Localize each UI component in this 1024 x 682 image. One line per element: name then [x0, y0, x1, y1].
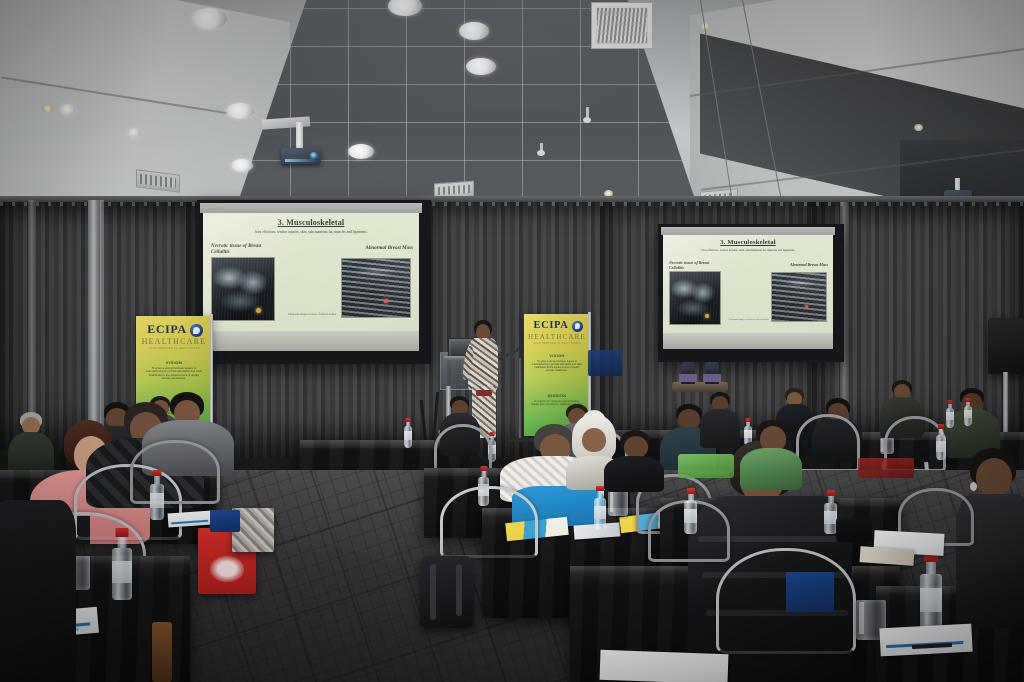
- slide-content: 3. Musculoskeletal Joint effusions, tend…: [203, 213, 419, 331]
- projection-screen-left[interactable]: 3. Musculoskeletal Joint effusions, tend…: [197, 200, 431, 364]
- screen-surface: 3. Musculoskeletal Joint effusions, tend…: [203, 213, 419, 331]
- water-bottle: [684, 488, 697, 534]
- sprinkler-head: [586, 107, 589, 119]
- slide-caption-right: Abnormal Breast Mass: [339, 246, 413, 252]
- blue-bag: [210, 510, 240, 532]
- spotlight: [42, 104, 53, 113]
- pa-speaker: [988, 318, 1024, 374]
- exhibit-item: [703, 374, 721, 382]
- audience-member: [740, 420, 802, 490]
- audience-member: [604, 430, 664, 492]
- banner-subtitle: HEALTHCARE: [524, 333, 590, 341]
- water-bottle: [946, 400, 954, 428]
- water-bottle: [594, 486, 606, 530]
- audience-member: [0, 500, 76, 682]
- water-bottle: [404, 418, 412, 448]
- slide-credit: Ultrasound images courtesy of clinical a…: [281, 313, 343, 316]
- projector[interactable]: [281, 148, 321, 164]
- downlight: [466, 58, 496, 75]
- slide-bullet: Joint effusions, tendon injuries, skin, …: [213, 230, 409, 234]
- screen-valance: [200, 203, 422, 213]
- banner-vision-heading: VISION: [524, 354, 590, 358]
- wall-pillar: [28, 200, 36, 444]
- downlight: [459, 22, 489, 40]
- downlight: [226, 103, 254, 119]
- hvac-vent: [591, 2, 653, 49]
- slide-caption-right: Abnormal Breast Mass: [770, 263, 828, 268]
- ultrasound-image-left: [670, 272, 720, 324]
- chair: [130, 440, 220, 504]
- banner-tagline: YOUR PARTNER IN HEALTHCARE: [524, 342, 590, 345]
- notepad: [879, 624, 972, 657]
- ecipa-logo-icon: [190, 324, 203, 337]
- slide-caption-left: Necrotic tissue of Breast Cellulitis: [669, 261, 725, 270]
- tote-logo: [210, 556, 244, 582]
- green-item: [678, 454, 734, 478]
- banner-vision-body: To grow a strong business legacy of manu…: [531, 360, 583, 373]
- chair: [440, 486, 538, 558]
- conference-room-photo: 3. Musculoskeletal Joint effusions, tend…: [0, 0, 1024, 682]
- earring: [970, 482, 977, 491]
- screen-valance: [661, 227, 835, 235]
- mobile-phone[interactable]: [836, 518, 872, 542]
- water-bottle: [964, 398, 972, 426]
- screen-surface: 3. Musculoskeletal Joint effusions, tend…: [663, 235, 833, 333]
- banner-mission-heading: MISSION: [524, 394, 590, 398]
- exhibit-item: [679, 374, 697, 382]
- downlight: [191, 8, 227, 30]
- water-bottle: [112, 528, 132, 600]
- banner-subtitle: HEALTHCARE: [136, 337, 212, 346]
- downlight: [348, 144, 374, 159]
- slide-title: 3. Musculoskeletal: [203, 218, 419, 227]
- banner-vision-heading: VISION: [136, 360, 212, 365]
- presenter-top: [468, 338, 498, 390]
- ultrasound-image-right: [342, 259, 410, 317]
- banner-vision-body: To grow a strong business legacy of manu…: [145, 367, 203, 381]
- downlight: [127, 128, 141, 138]
- blue-bag: [588, 350, 622, 376]
- red-bag: [858, 458, 914, 478]
- curtain-hooks: [0, 202, 1024, 206]
- downlight: [60, 104, 75, 116]
- blue-bag: [786, 572, 834, 612]
- chair-leg: [152, 622, 172, 682]
- water-bottle: [920, 552, 942, 630]
- drinking-glass: [608, 490, 628, 516]
- water-bottle: [150, 470, 164, 520]
- ecipa-logo-icon: [572, 321, 583, 332]
- backpack: [420, 556, 474, 628]
- ultrasound-image-left: [212, 258, 274, 320]
- banner-tagline: YOUR PARTNER IN HEALTHCARE: [136, 347, 212, 350]
- slide-title: 3. Musculoskeletal: [663, 239, 833, 246]
- screen-lower-band: [203, 331, 419, 351]
- speaker-stand: [1003, 372, 1008, 436]
- slide-bullet: Joint effusions, tendon injuries, skin, …: [671, 249, 825, 253]
- spotlight: [914, 124, 923, 131]
- water-bottle: [936, 424, 946, 460]
- screen-lower-band: [663, 333, 833, 349]
- sprinkler-head: [540, 143, 543, 152]
- notepad: [600, 650, 729, 682]
- projector-vent: [285, 159, 315, 162]
- projection-screen-right[interactable]: 3. Musculoskeletal Joint effusions, tend…: [658, 224, 844, 362]
- slide-content: 3. Musculoskeletal Joint effusions, tend…: [663, 235, 833, 333]
- slide-credit: Ultrasound images courtesy of clinical a…: [725, 319, 773, 321]
- downlight: [231, 159, 253, 172]
- ultrasound-image-right: [772, 273, 826, 321]
- slide-caption-left: Necrotic tissue of Breast Cellulitis: [211, 244, 281, 256]
